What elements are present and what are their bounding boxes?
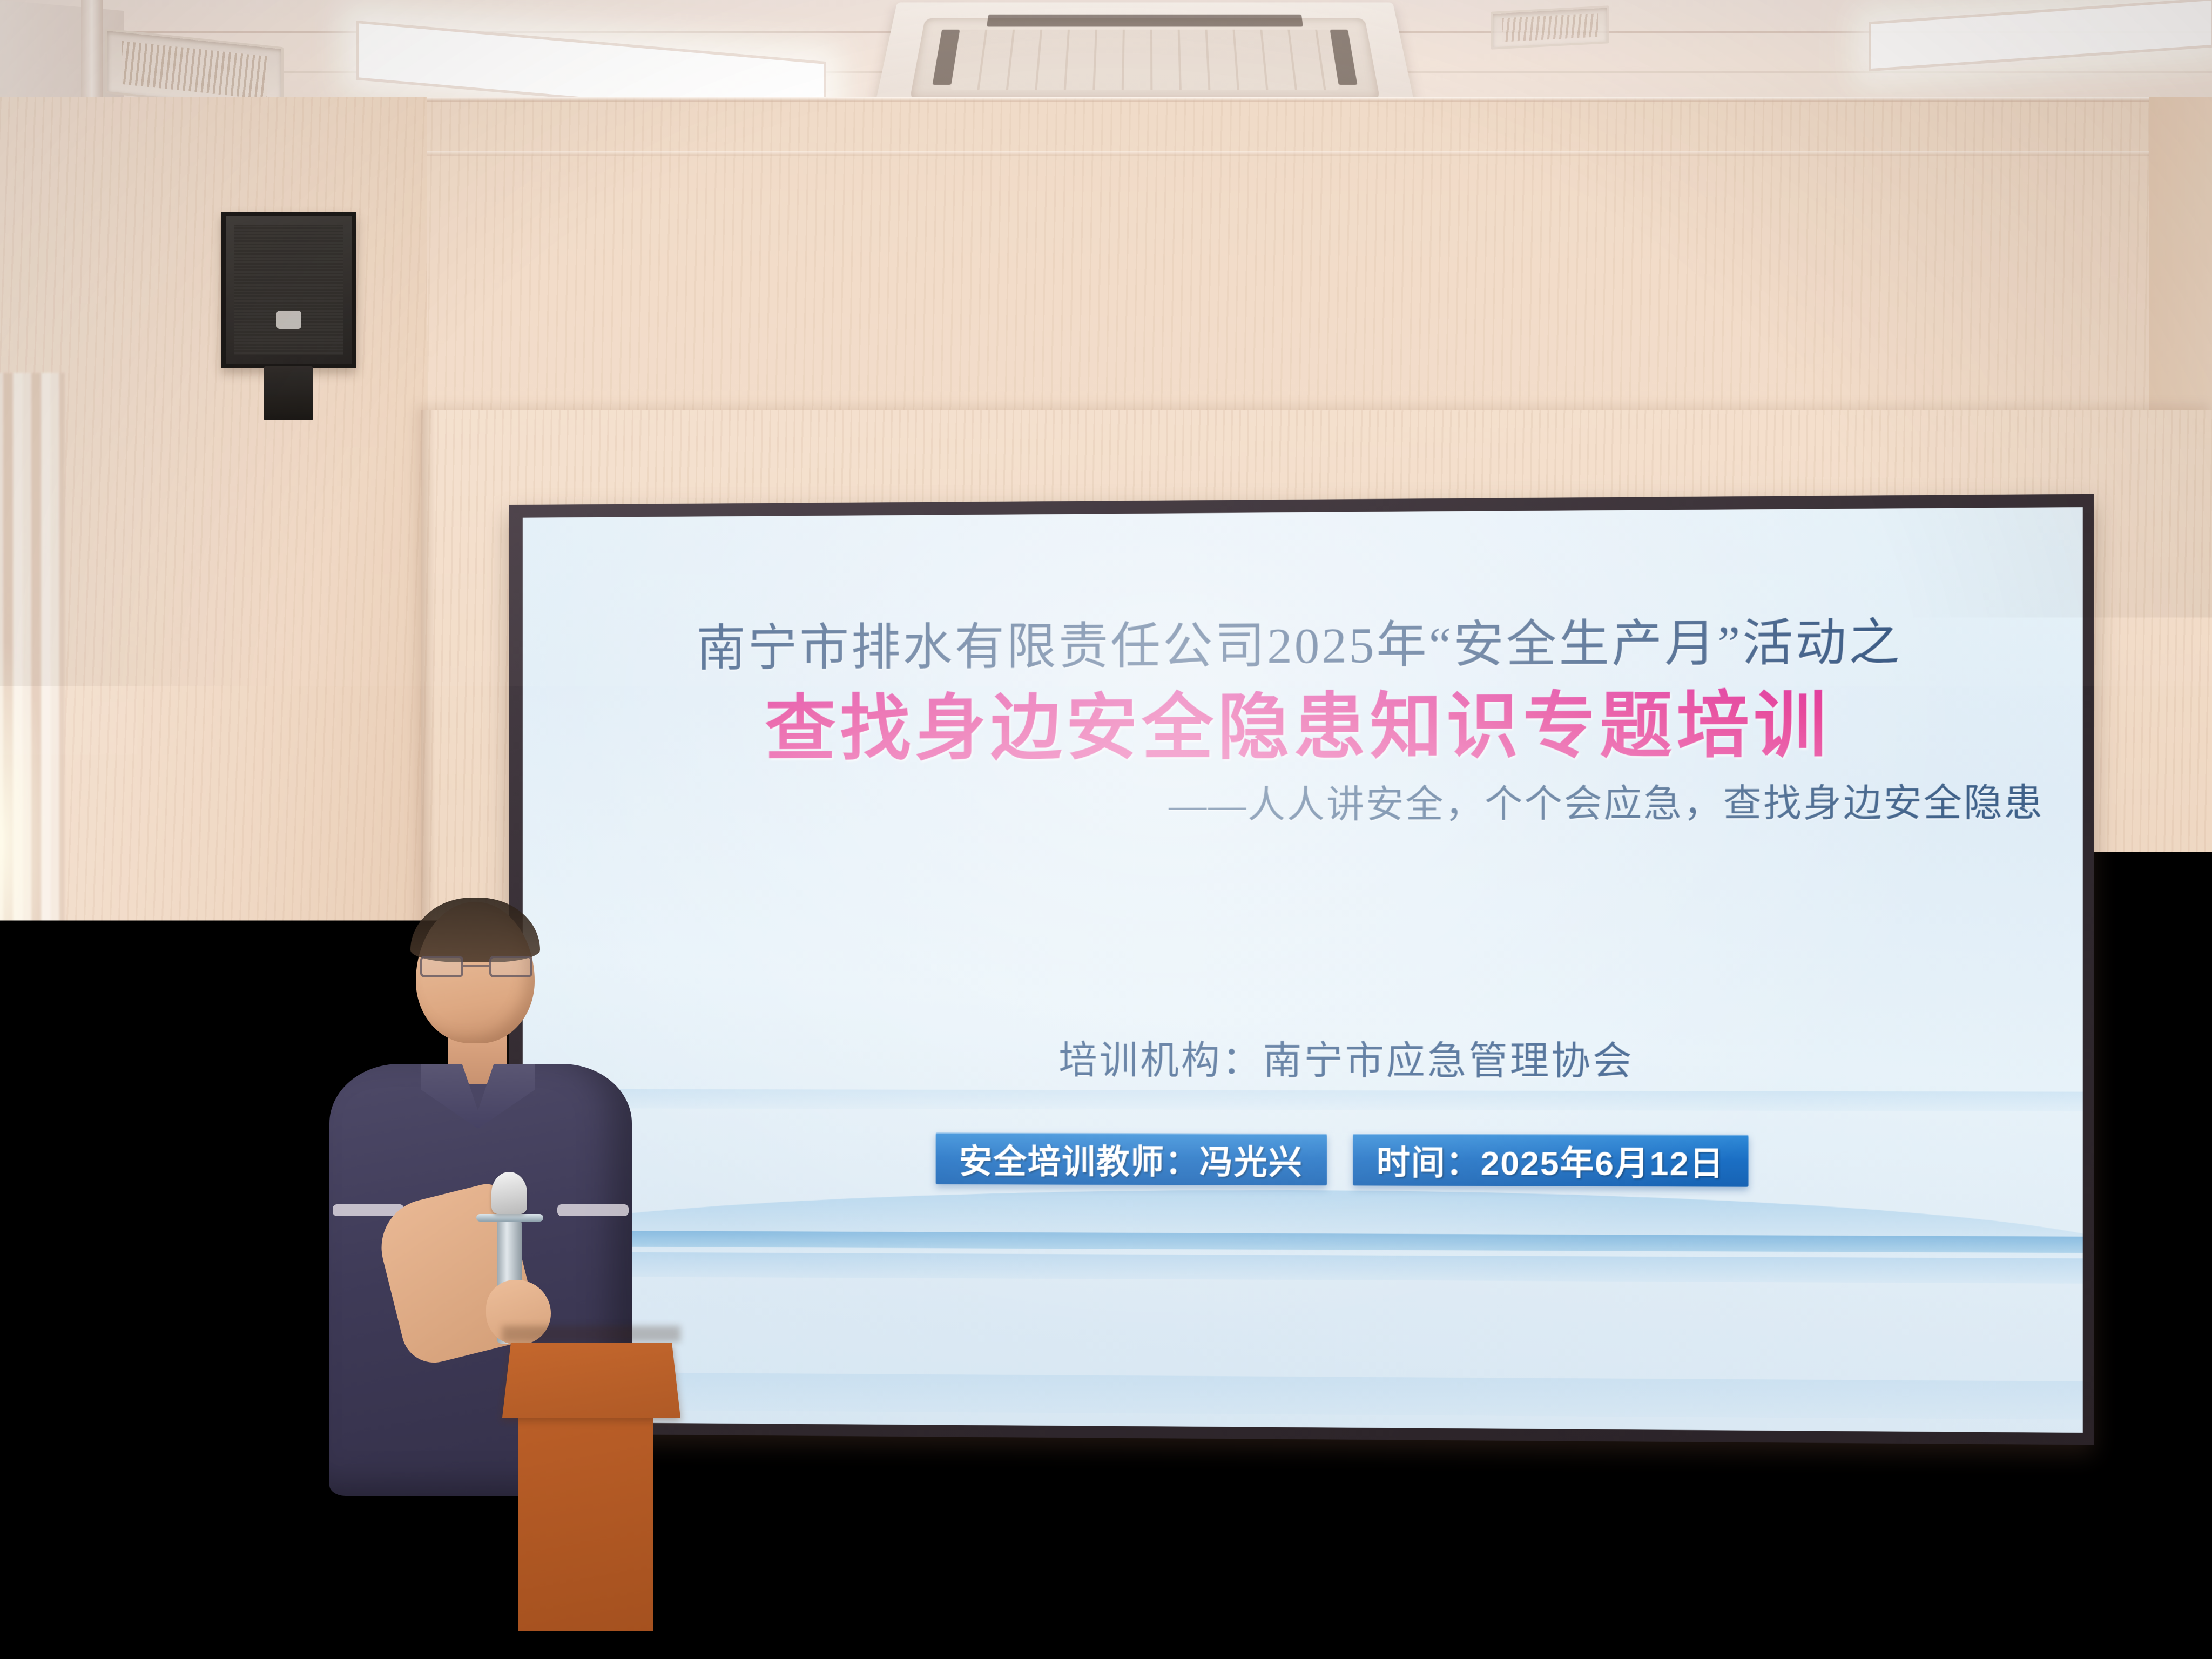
slide-title: 查找身边安全隐患知识专题培训 [523,665,2083,775]
microphone-icon [491,1172,527,1214]
ceiling-vent-grille-right [1491,5,1609,50]
device-keypad [2133,1440,2209,1559]
microphone-ring [476,1214,543,1222]
podium-body [518,1404,653,1631]
glasses-icon [420,956,532,977]
podium-lectern-top [502,1343,680,1418]
projection-screen-bezel: 南宁市排水有限责任公司2025年“安全生产月”活动之 查找身边安全隐患知识专题培… [509,494,2094,1445]
slide-badge-date: 时间：2025年6月12日 [1353,1134,1749,1186]
white-desk-device [2052,1415,2212,1588]
projection-screen: 南宁市排水有限责任公司2025年“安全生产月”活动之 查找身边安全隐患知识专题培… [523,507,2083,1433]
speaker-mount-bracket [264,366,313,420]
slide-badge-teacher: 安全培训教师：冯光兴 [935,1132,1326,1185]
slide-tagline: ——人人讲安全，个个会应急，查找身边安全隐患 [1169,772,2044,829]
wall-speaker [221,212,356,368]
slide-deco-band-bottom [523,1372,2083,1419]
speaker-driver-icon [276,311,301,329]
slide-deco-band-top [523,1089,2083,1111]
audience-shirt-4 [1712,1501,2014,1659]
audience-shirt-3 [1382,1453,1728,1659]
slide-badge-row: 安全培训教师：冯光兴 时间：2025年6月12日 [523,1132,2083,1188]
ceiling-ac-cassette [873,2,1417,112]
window-daylight-glow [0,637,49,1048]
slide-organizer-line: 培训机构：南宁市应急管理协会 [523,1028,2083,1087]
presenter-hair [410,898,540,962]
seminar-photo-scene: 南宁市排水有限责任公司2025年“安全生产月”活动之 查找身边安全隐患知识专题培… [0,0,2212,1659]
